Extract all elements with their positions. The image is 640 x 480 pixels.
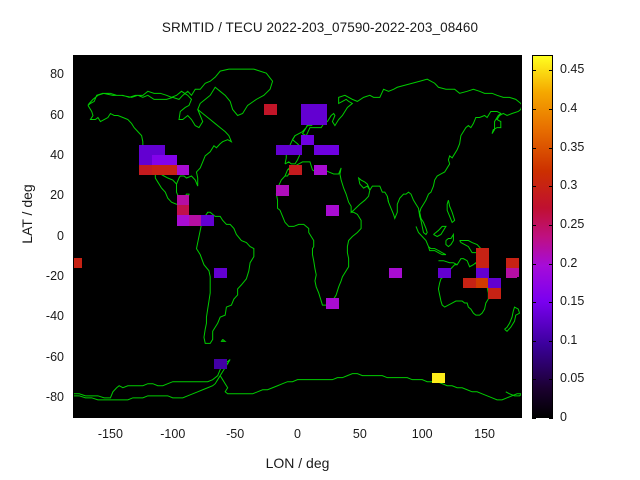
tick-mark [532,264,536,265]
tick-mark [485,55,486,60]
heatmap-cell [139,145,152,156]
tick-mark [549,379,553,380]
y-tick-label: 80 [18,67,64,81]
tick-mark [73,317,78,318]
tick-mark [110,55,111,60]
tick-mark [517,398,522,399]
tick-mark [298,55,299,60]
tick-mark [173,55,174,60]
heatmap-cell [314,145,327,156]
heatmap-cell [488,278,501,289]
tick-mark [73,398,78,399]
tick-mark [110,413,111,418]
heatmap-cell [326,298,339,309]
tick-mark [549,186,553,187]
y-tick-label: -40 [18,309,64,323]
y-tick-label: 60 [18,108,64,122]
tick-mark [517,156,522,157]
tick-mark [173,413,174,418]
y-tick-label: -60 [18,350,64,364]
heatmap-cell [301,135,314,146]
tick-mark [532,109,536,110]
heatmap-cell [152,145,165,156]
tick-mark [549,341,553,342]
tick-mark [73,75,78,76]
x-tick-label: 50 [330,427,390,441]
tick-mark [549,148,553,149]
tick-mark [549,418,553,419]
colorbar-tick-label: 0.25 [560,217,584,231]
heatmap-cell [177,215,190,226]
heatmap-cell [432,373,445,384]
figure-root: SRMTID / TECU 2022-203_07590-2022-203_08… [0,0,640,480]
heatmap-cell [276,145,289,156]
tick-mark [517,317,522,318]
heatmap-cell [139,155,152,166]
heatmap-cell [314,104,327,115]
heatmap-cell [177,205,190,216]
tick-mark [517,358,522,359]
tick-mark [517,116,522,117]
heatmap-cell [506,258,519,269]
heatmap-cell [314,114,327,125]
heatmap-cell [476,268,489,279]
heatmap-cell [476,258,489,269]
heatmap-cell [201,215,214,226]
tick-mark [73,156,78,157]
tick-mark [532,148,536,149]
heatmap-cell [301,114,314,125]
heatmap-cell [389,268,402,279]
heatmap-cell [164,155,177,166]
tick-mark [235,55,236,60]
tick-mark [73,116,78,117]
heatmap-cell [189,215,202,226]
colorbar-tick-label: 0.15 [560,294,584,308]
heatmap-cells-layer [73,55,522,418]
tick-mark [235,413,236,418]
tick-mark [517,75,522,76]
tick-mark [360,413,361,418]
tick-mark [532,302,536,303]
colorbar-tick-label: 0.3 [560,178,577,192]
tick-mark [73,277,78,278]
x-tick-label: -100 [143,427,203,441]
heatmap-cell [476,248,489,259]
colorbar-tick-label: 0.45 [560,62,584,76]
y-tick-label: -80 [18,390,64,404]
heatmap-cell [177,165,190,176]
heatmap-cell [326,145,339,156]
heatmap-cell [177,195,190,206]
heatmap-cell [301,104,314,115]
tick-mark [549,225,553,226]
heatmap-cell [476,278,489,289]
x-tick-label: -150 [80,427,140,441]
heatmap-cell [264,104,277,115]
heatmap-cell [152,155,165,166]
tick-mark [532,341,536,342]
map-plot-area[interactable] [73,55,522,418]
x-tick-label: 150 [455,427,515,441]
tick-mark [549,109,553,110]
tick-mark [422,413,423,418]
colorbar-gradient [533,56,552,417]
y-axis-label: LAT / deg [19,124,35,304]
tick-mark [517,277,522,278]
tick-mark [73,358,78,359]
x-tick-label: 100 [392,427,452,441]
heatmap-cell [139,165,152,176]
heatmap-cell [152,165,165,176]
heatmap-cell [214,268,227,279]
heatmap-cell [214,359,227,370]
x-axis-label: LON / deg [73,455,522,471]
heatmap-cell [164,165,177,176]
tick-mark [549,70,553,71]
heatmap-cell [438,268,451,279]
heatmap-cell [314,165,327,176]
heatmap-cell [276,185,289,196]
tick-mark [549,264,553,265]
tick-mark [73,196,78,197]
heatmap-cell [73,258,82,269]
tick-mark [422,55,423,60]
colorbar-tick-label: 0.05 [560,371,584,385]
tick-mark [532,225,536,226]
tick-mark [485,413,486,418]
tick-mark [532,186,536,187]
x-tick-label: 0 [268,427,328,441]
heatmap-cell [326,205,339,216]
tick-mark [517,237,522,238]
heatmap-cell [488,288,501,299]
page-title: SRMTID / TECU 2022-203_07590-2022-203_08… [0,20,640,35]
tick-mark [549,302,553,303]
tick-mark [298,413,299,418]
tick-mark [532,418,536,419]
tick-mark [517,196,522,197]
heatmap-cell [289,165,302,176]
colorbar-tick-label: 0 [560,410,567,424]
tick-mark [532,70,536,71]
tick-mark [73,237,78,238]
heatmap-cell [289,145,302,156]
tick-mark [532,379,536,380]
x-tick-label: -50 [205,427,265,441]
colorbar-tick-label: 0.35 [560,140,584,154]
colorbar-tick-label: 0.2 [560,256,577,270]
colorbar-tick-label: 0.1 [560,333,577,347]
heatmap-cell [463,278,476,289]
colorbar-tick-label: 0.4 [560,101,577,115]
tick-mark [360,55,361,60]
